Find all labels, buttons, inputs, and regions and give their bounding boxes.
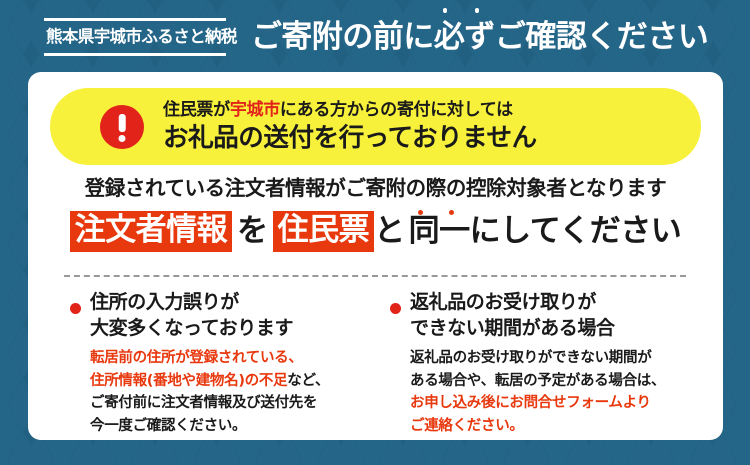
- note-column-delivery-unavailable: 返礼品のお受け取りが できない期間がある場合 返礼品のお受け取りができない期間が…: [375, 290, 722, 437]
- alert-line1-pre: 住民票が: [163, 100, 230, 120]
- note-heading-line-2: 大変多くなっております: [90, 316, 375, 342]
- exclamation-dot: [119, 135, 126, 142]
- highlight-box-orderer-info: 注文者情報: [70, 211, 233, 253]
- alert-line-2: お礼品の送付を行っておりません: [163, 126, 537, 152]
- note-subtext-line-2: 住所情報(番地や建物名)の不足など、: [90, 370, 375, 392]
- mid-tail-pre: と: [374, 214, 405, 250]
- alert-line-1: 住民票が宇城市にある方からの寄付に対しては: [163, 102, 537, 119]
- note-body: 住所の入力誤りが 大変多くなっております 転居前の住所が登録されている、 住所情…: [90, 290, 375, 437]
- content-card: 住民票が宇城市にある方からの寄付に対しては お礼品の送付を行っておりません 登録…: [28, 72, 723, 440]
- page-title: ご寄附の前に必ずご確認ください: [251, 22, 709, 53]
- brand-name: 熊本県宇城市ふるさと納税: [44, 21, 237, 54]
- note-body: 返礼品のお受け取りが できない期間がある場合 返礼品のお受け取りができない期間が…: [410, 290, 722, 437]
- note-subtext-line-4: 今一度ご確認ください。: [90, 415, 375, 437]
- alert-line1-post: にある方からの寄付に対しては: [280, 100, 513, 120]
- mid-particle-wo: を: [232, 214, 273, 250]
- red-dot-bullet: [70, 303, 81, 314]
- note-subtext: 転居前の住所が登録されている、 住所情報(番地や建物名)の不足など、 ご寄付前に…: [90, 347, 375, 437]
- note-subtext-line-1: 返礼品のお受け取りができない期間が: [410, 347, 722, 369]
- notice-banner: 熊本県宇城市ふるさと納税 ご寄附の前に必ずご確認ください 住民票が宇城市にある方…: [0, 0, 750, 465]
- mid-statement: 登録されている注文者情報がご寄附の際の控除対象者となります 注文者情報を住民票と…: [28, 178, 723, 252]
- alert-banner: 住民票が宇城市にある方からの寄付に対しては お礼品の送付を行っておりません: [50, 88, 701, 165]
- highlight-box-residence-certificate: 住民票: [273, 211, 375, 253]
- note-subtext-line-4: ご連絡ください。: [410, 415, 722, 437]
- red-dot-bullet: [390, 303, 401, 314]
- title-pre: ご寄附の前に: [251, 19, 434, 55]
- note-heading: 住所の入力誤りが 大変多くなっております: [90, 290, 375, 341]
- mid-tail-emphasis: 同一: [405, 214, 470, 250]
- banner-header: 熊本県宇城市ふるさと納税 ご寄附の前に必ずご確認ください: [0, 0, 750, 72]
- mid-statement-line-2: 注文者情報を住民票と同一にしてください: [28, 211, 723, 253]
- note-subtext-line-2: ある場合や、転居の予定がある場合は、: [410, 370, 722, 392]
- title-post: ご確認ください: [495, 19, 709, 55]
- brand-rule-bottom: [44, 53, 226, 56]
- mid-tail-post: にしてください: [470, 214, 682, 250]
- exclamation-bar: [119, 114, 126, 132]
- title-emphasis: 必ず: [434, 19, 495, 55]
- brand-block: 熊本県宇城市ふるさと納税: [44, 18, 237, 57]
- alert-text-block: 住民票が宇城市にある方からの寄付に対しては お礼品の送付を行っておりません: [163, 102, 537, 152]
- note-subtext-line-1: 転居前の住所が登録されている、: [90, 347, 375, 369]
- note-heading: 返礼品のお受け取りが できない期間がある場合: [410, 290, 722, 341]
- notes-columns: 住所の入力誤りが 大変多くなっております 転居前の住所が登録されている、 住所情…: [28, 290, 723, 437]
- note-subtext-line-2-red: 住所情報(番地や建物名)の不足: [90, 373, 287, 389]
- note-heading-line-2: できない期間がある場合: [410, 316, 722, 342]
- mid-statement-line-1: 登録されている注文者情報がご寄附の際の控除対象者となります: [28, 178, 723, 199]
- note-heading-line-1: 住所の入力誤りが: [90, 290, 375, 316]
- note-subtext-line-2-tail: など、: [287, 373, 329, 389]
- note-subtext-line-3: お申し込み後にお問合せフォームより: [410, 392, 722, 414]
- note-subtext: 返礼品のお受け取りができない期間が ある場合や、転居の予定がある場合は、 お申し…: [410, 347, 722, 437]
- dashed-divider: [64, 275, 686, 277]
- note-heading-line-1: 返礼品のお受け取りが: [410, 290, 722, 316]
- note-column-address-error: 住所の入力誤りが 大変多くなっております 転居前の住所が登録されている、 住所情…: [28, 290, 375, 437]
- alert-line1-highlight: 宇城市: [230, 100, 280, 120]
- exclamation-circle-icon: [100, 105, 144, 149]
- note-subtext-line-3: ご寄付前に注文者情報及び送付先を: [90, 392, 375, 414]
